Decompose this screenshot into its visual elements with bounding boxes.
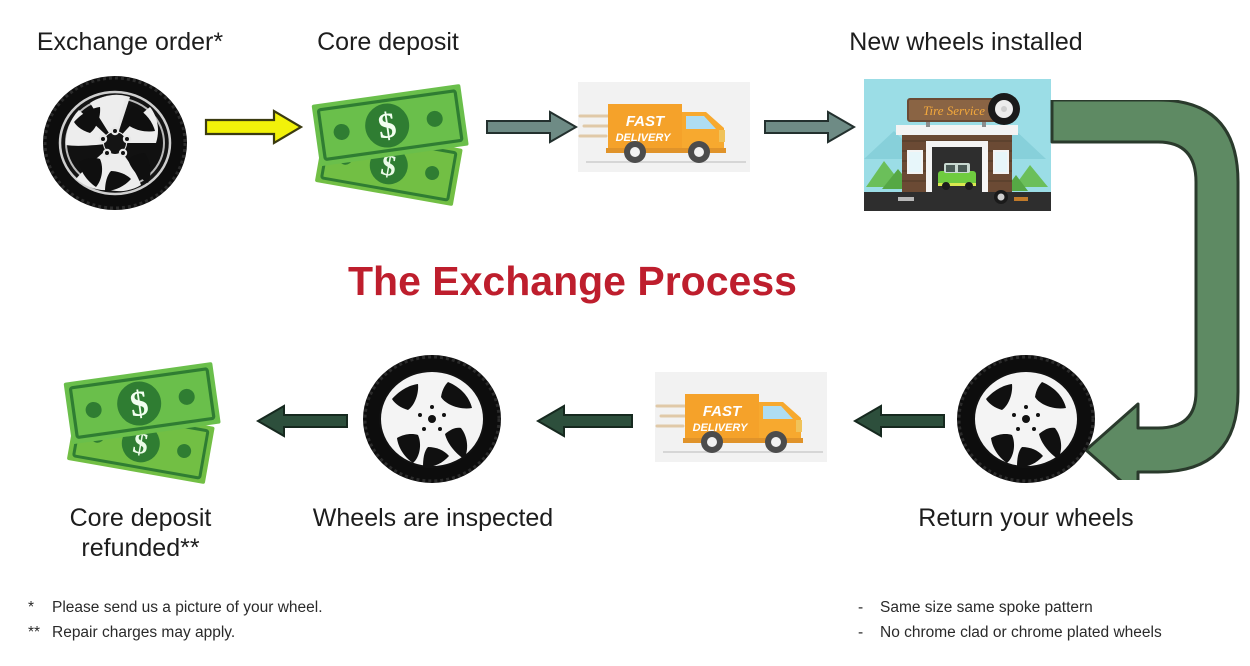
footnote-right-1-text: Same size same spoke pattern [880, 599, 1093, 616]
footnote-right-1-marker: - [858, 595, 880, 620]
label-core-deposit-refunded-line2: refunded** [81, 534, 199, 562]
footnote-right-1: -Same size same spoke pattern [858, 595, 1162, 620]
svg-text:FAST: FAST [703, 403, 743, 420]
label-new-wheels-installed: New wheels installed [806, 28, 1126, 58]
footnote-left-1-text: Please send us a picture of your wheel. [52, 599, 323, 616]
shop-sign-text: Tire Service [923, 103, 985, 118]
label-core-deposit-refunded-line1: Core deposit [70, 504, 212, 532]
arrow-yellow-order-to-deposit [204, 108, 304, 146]
delivery-truck-graphic-outbound: FAST DELIVERY [578, 82, 750, 172]
footnote-left-2-text: Repair charges may apply. [52, 624, 235, 641]
label-core-deposit-refunded: Core deposit refunded** [28, 504, 253, 563]
money-graphic-refund: $ $ [57, 350, 232, 485]
exchange-process-diagram: Exchange order* Core deposit New wheels … [0, 0, 1250, 666]
label-exchange-order: Exchange order* [0, 28, 260, 58]
label-core-deposit: Core deposit [282, 28, 494, 58]
footnotes-right: -Same size same spoke pattern -No chrome… [858, 595, 1162, 645]
money-graphic-core-deposit: $ $ [305, 72, 480, 207]
delivery-truck-graphic-return: FAST DELIVERY [655, 372, 827, 462]
footnote-left-2: **Repair charges may apply. [28, 620, 323, 645]
arrow-green-shipping-to-inspection [528, 404, 633, 438]
svg-text:DELIVERY: DELIVERY [693, 422, 749, 434]
wheel-graphic-return [952, 352, 1100, 487]
arrow-green-return-to-shipping [845, 404, 945, 438]
wheel-graphic-exchange-order [38, 73, 193, 213]
page-title: The Exchange Process [348, 258, 797, 305]
arrow-teal-deposit-to-shipping [486, 110, 578, 144]
truck-text-fast: FAST [626, 113, 666, 130]
footnote-right-2-marker: - [858, 620, 880, 645]
arrow-teal-shipping-to-install [764, 110, 856, 144]
wheel-graphic-inspected [358, 352, 506, 487]
tire-service-shop-graphic: Tire Service [864, 79, 1051, 211]
footnote-left-1-marker: * [28, 595, 52, 620]
footnote-right-2: -No chrome clad or chrome plated wheels [858, 620, 1162, 645]
footnote-left-2-marker: ** [28, 620, 52, 645]
footnote-right-2-text: No chrome clad or chrome plated wheels [880, 624, 1162, 641]
label-wheels-inspected: Wheels are inspected [288, 504, 578, 534]
footnote-left-1: *Please send us a picture of your wheel. [28, 595, 323, 620]
footnotes-left: *Please send us a picture of your wheel.… [28, 595, 323, 645]
truck-text-delivery: DELIVERY [616, 132, 672, 144]
arrow-green-inspected-to-refund [248, 404, 348, 438]
label-return-your-wheels: Return your wheels [895, 504, 1157, 534]
